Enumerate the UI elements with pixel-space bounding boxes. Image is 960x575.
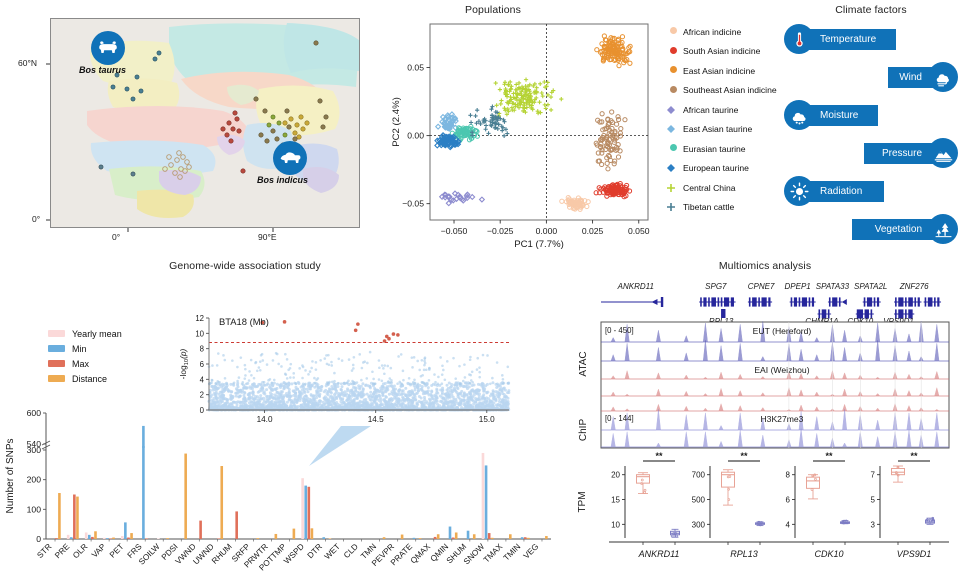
gwas-bar: [545, 536, 548, 539]
gwas-ylabel: Number of SNPs: [5, 438, 16, 513]
gwas-xtick: WSPD: [282, 542, 306, 566]
gene-label-ZNF276: ZNF276: [899, 282, 929, 291]
pca-legend-label: African indicine: [683, 27, 741, 37]
legend-plus-icon: [666, 183, 680, 193]
gwas-bar: [275, 534, 278, 539]
multiomics-title: Multiomics analysis: [615, 260, 915, 272]
gwas-bar: [199, 521, 202, 539]
legend-swatch: [48, 330, 65, 337]
gene-track: ANKRD11SPG7CPNE7DPEP1SPATA33SPATA2LZNF27…: [575, 276, 960, 324]
gwas-xtick: PRE: [53, 542, 72, 561]
legend-swatch: [48, 360, 65, 367]
gwas-bar: [482, 453, 485, 539]
gwas-bars: [55, 426, 548, 539]
gene-label-DPEP1: DPEP1: [785, 282, 811, 291]
tpm-gene-label-RPL13: RPL13: [730, 549, 758, 559]
gwas-bar: [527, 538, 530, 539]
manhattan-ytick: 10: [195, 329, 204, 338]
gene-exon: [809, 297, 811, 306]
pca-legend-label: South Asian indicine: [683, 46, 760, 56]
pca-xtick: 0.025: [582, 226, 604, 236]
legend-diamond-icon: [666, 124, 680, 134]
gwas-bar: [488, 533, 491, 539]
manhattan-ytick: 4: [200, 375, 205, 384]
legend-circle-icon: [666, 26, 680, 37]
gwas-bar: [88, 535, 91, 539]
gwas-bar: [485, 465, 488, 539]
climate-title: Climate factors: [782, 4, 960, 16]
gwas-xtick: VAP: [90, 542, 108, 560]
pca-legend-item[interactable]: Eurasian taurine: [666, 139, 786, 159]
gene-label-SPATA33: SPATA33: [816, 282, 850, 291]
gene-exon: [768, 297, 770, 306]
gwas-ytick: 540: [27, 439, 42, 449]
gwas-legend-label: Yearly mean: [72, 329, 122, 339]
gwas-bar: [130, 533, 133, 539]
gene-arrow-icon: [842, 299, 847, 305]
gwas-bar: [524, 537, 527, 539]
tpm-gene-label-CDK10: CDK10: [814, 549, 843, 559]
gene-exon: [895, 297, 897, 306]
gwas-xtick: WET: [323, 542, 342, 561]
climate-factor-temperature[interactable]: Temperature: [784, 24, 896, 54]
legend-plus-icon: [666, 202, 680, 212]
gene-exon: [711, 297, 716, 306]
significant-snp: [283, 320, 287, 324]
gwas-bar: [85, 532, 88, 539]
tpm-box: [807, 477, 820, 488]
gene-exon: [794, 297, 797, 306]
gene-exon: [700, 297, 702, 306]
gwas-bar: [301, 478, 304, 539]
gwas-bar: [401, 535, 404, 539]
tpm-ytick: 10: [611, 520, 620, 529]
climate-factor-label: Radiation: [806, 181, 884, 202]
pca-legend: African indicineSouth Asian indicineEast…: [666, 22, 786, 217]
pca-legend-label: African taurine: [683, 105, 738, 115]
gwas-xtick: RHUM: [210, 542, 234, 566]
pca-legend-item[interactable]: Tibetan cattle: [666, 198, 786, 218]
gwas-bar: [473, 534, 476, 539]
significance-marker: **: [825, 451, 833, 461]
pca-ytick: −0.05: [402, 199, 424, 209]
pca-panel: Populations −0.050−0.0250.0000.0250.0500…: [388, 10, 778, 260]
gwas-legend-label: Max: [72, 359, 89, 369]
tpm-ytick: 300: [692, 520, 706, 529]
gwas-legend-label: Min: [72, 344, 87, 354]
pca-xtick: 0.000: [536, 226, 558, 236]
track-group-chip: ChIP: [578, 419, 589, 442]
manhattan-ytick: 12: [195, 314, 204, 323]
gene-exon: [762, 297, 767, 306]
gwas-ytick: 0: [36, 534, 41, 544]
gwas-legend: Yearly meanMinMaxDistance: [48, 326, 122, 386]
gwas-bar: [235, 511, 238, 539]
gwas-bar: [94, 531, 97, 539]
gene-exon: [864, 297, 866, 306]
significant-snp: [354, 328, 358, 332]
gene-exon: [708, 297, 710, 306]
gwas-bar: [509, 534, 512, 539]
pca-legend-item[interactable]: Southeast Asian indicine: [666, 81, 786, 101]
gwas-bar: [467, 531, 470, 539]
climate-factor-label: Vegetation: [852, 219, 936, 240]
gwas-bar: [106, 538, 109, 539]
rain-cloud-icon: [784, 100, 814, 130]
manhattan-ylabel: -log10(p): [178, 348, 190, 379]
gwas-title: Genome-wide association study: [30, 260, 460, 272]
gwas-bar: [124, 522, 127, 539]
gwas-xtick: TMAX: [482, 542, 505, 565]
pca-legend-label: Central China: [683, 183, 736, 193]
gwas-bar: [127, 538, 130, 539]
gene-exon: [724, 297, 729, 306]
pca-legend-label: Eurasian taurine: [683, 144, 746, 154]
gene-exon: [832, 297, 837, 306]
gene-exon: [829, 297, 831, 306]
gene-label-ANKRD11: ANKRD11: [617, 282, 654, 291]
climate-factor-label: Moisture: [806, 105, 878, 126]
gwas-bar: [70, 537, 73, 539]
tpm-ytick: 15: [611, 496, 620, 505]
gene-exon: [905, 297, 907, 306]
gwas-bar: [293, 529, 296, 539]
gwas-bar: [67, 535, 70, 539]
gene-exon: [937, 297, 939, 306]
gene-exon: [908, 297, 913, 306]
track-group-atac: ATAC: [578, 351, 589, 376]
pca-legend-item[interactable]: South Asian indicine: [666, 42, 786, 62]
pca-xlabel: PC1 (7.7%): [514, 239, 564, 250]
climate-factor-vegetation[interactable]: Vegetation: [852, 214, 958, 244]
gwas-legend-item[interactable]: Max: [48, 356, 122, 371]
pca-legend-label: East Asian taurine: [683, 124, 752, 134]
gene-arrow-icon: [651, 299, 657, 305]
gene-label-SPG7: SPG7: [705, 282, 727, 291]
gene-exon: [839, 297, 841, 306]
gwas-bar: [311, 528, 314, 539]
pca-legend-item[interactable]: African indicine: [666, 22, 786, 42]
tpm-ytick: 500: [692, 496, 706, 505]
gwas-bar: [166, 538, 169, 539]
track-label: H3K27me3: [760, 414, 803, 424]
gwas-bar: [91, 537, 94, 539]
pca-legend-label: Southeast Asian indicine: [683, 85, 777, 95]
pca-xtick: 0.050: [628, 226, 650, 236]
gwas-xtick: TMIN: [502, 542, 523, 563]
gwas-xtick: OLR: [71, 542, 89, 560]
track-label: EUT (Hereford): [753, 326, 812, 336]
gwas-xtick: DTR: [306, 542, 324, 560]
pca-legend-item[interactable]: European taurine: [666, 159, 786, 179]
gene-exon: [934, 297, 936, 306]
gene-exon: [799, 297, 801, 306]
tpm-boxplots: TPM101520**ANKRD11300500700**RPL13468**C…: [575, 450, 960, 570]
gwas-bar: [455, 532, 458, 539]
pca-legend-item[interactable]: Central China: [666, 178, 786, 198]
legend-diamond-icon: [666, 163, 680, 173]
gwas-xtick: QMAX: [409, 542, 433, 566]
gene-exon: [925, 297, 927, 306]
track-label: EAI (Weizhou): [754, 365, 809, 375]
gwas-bar: [76, 497, 79, 539]
pca-ytick: 0.00: [407, 131, 424, 141]
gwas-bar: [220, 466, 223, 539]
track-range-label: [0 - 144]: [605, 414, 634, 423]
gwas-bar: [434, 537, 437, 539]
gene-exon: [718, 297, 720, 306]
gwas-bar: [322, 537, 325, 539]
tpm-ytick: 7: [871, 471, 876, 480]
pca-ylabel: PC2 (2.4%): [391, 97, 402, 147]
significant-snp: [392, 332, 396, 336]
pca-legend-item[interactable]: East Asian taurine: [666, 120, 786, 140]
gwas-bar: [329, 538, 332, 539]
climate-factor-moisture[interactable]: Moisture: [784, 100, 878, 130]
pca-legend-label: East Asian indicine: [683, 66, 755, 76]
gwas-legend-item[interactable]: Yearly mean: [48, 326, 122, 341]
significant-snp: [396, 333, 400, 337]
significance-marker: **: [740, 451, 748, 461]
gene-exon: [914, 297, 916, 306]
climate-factor-wind[interactable]: Wind: [888, 62, 958, 92]
manhattan-ytick: 8: [200, 345, 204, 354]
gwas-bar: [308, 487, 311, 539]
gwas-bar: [184, 454, 187, 539]
gene-label-SPATA2L: SPATA2L: [854, 282, 887, 291]
gwas-ytick: 200: [27, 475, 42, 485]
sun-icon: [784, 176, 814, 206]
gwas-xtick: PET: [108, 542, 126, 560]
gwas-bar: [217, 538, 220, 539]
gene-label-CPNE7: CPNE7: [748, 282, 775, 291]
climate-factor-label: Pressure: [864, 143, 936, 164]
gwas-bar: [452, 538, 455, 539]
pca-xtick: −0.050: [441, 226, 468, 236]
gwas-bar: [73, 495, 76, 540]
significant-snp: [356, 322, 360, 326]
significance-marker: **: [655, 451, 663, 461]
significant-snp: [387, 337, 391, 341]
gwas-bar: [145, 538, 148, 539]
gene-exon: [918, 297, 920, 306]
world-map-panel: Bos taurus Bos indicus 60°N 0° 0° 90°E: [18, 10, 368, 240]
coverage-tracks: [0 - 450]EUT (Hereford)EAI (Weizhou)[0 -…: [575, 320, 960, 452]
gwas-bar: [383, 537, 386, 539]
track-range-label: [0 - 450]: [605, 326, 634, 335]
tpm-ytick: 4: [786, 520, 791, 529]
gwas-xtick: VEG: [522, 542, 541, 561]
gwas-bar: [157, 538, 160, 539]
gwas-bar: [437, 534, 440, 539]
legend-circle-icon: [666, 65, 680, 76]
tpm-ylabel: TPM: [577, 491, 588, 512]
gwas-bar: [419, 538, 422, 539]
gwas-bar: [109, 538, 112, 539]
multiomics-panel: Multiomics analysis ANKRD11SPG7CPNE7DPEP…: [575, 258, 960, 575]
gwas-xtick: CLD: [342, 542, 360, 560]
manhattan-ytick: 2: [200, 391, 204, 400]
gene-exon: [758, 297, 760, 306]
tpm-ytick: 3: [871, 520, 876, 529]
gene-exon: [874, 297, 876, 306]
gwas-ytick: 100: [27, 504, 42, 514]
gwas-bar-chart: 0100200300540600Number of SNPsSTRPREOLRV…: [0, 408, 575, 575]
gene-exon: [791, 297, 793, 306]
gene-exon: [703, 297, 706, 306]
wind-cloud-icon: [928, 62, 958, 92]
gwas-bar: [257, 538, 260, 539]
pca-legend-label: European taurine: [683, 163, 749, 173]
pca-legend-label: Tibetan cattle: [683, 202, 734, 212]
climate-factor-label: Temperature: [806, 29, 896, 50]
legend-swatch: [48, 345, 65, 352]
gwas-bar: [491, 538, 494, 539]
pca-xtick: −0.025: [487, 226, 514, 236]
climate-factor-radiation[interactable]: Radiation: [784, 176, 884, 206]
gwas-legend-item[interactable]: Min: [48, 341, 122, 356]
legend-diamond-icon: [666, 105, 680, 115]
gwas-bar: [112, 538, 115, 539]
gene-exon: [867, 297, 872, 306]
legend-circle-icon: [666, 46, 680, 57]
gwas-legend-item[interactable]: Distance: [48, 371, 122, 386]
gwas-bar: [58, 493, 61, 539]
tpm-gene-label-ANKRD11: ANKRD11: [638, 549, 680, 559]
gwas-bar: [142, 446, 145, 539]
gwas-bar: [55, 538, 58, 539]
pca-title: Populations: [358, 4, 628, 16]
manhattan-title: BTA18 (Mb): [219, 316, 269, 327]
climate-factor-pressure[interactable]: Pressure: [864, 138, 958, 168]
gwas-ytick: 600: [27, 408, 42, 418]
gene-exon: [731, 297, 734, 306]
gwas-bar: [304, 486, 307, 539]
gwas-xtick: SNOW: [462, 542, 487, 567]
gene-exon: [928, 297, 933, 306]
gene-exon: [802, 297, 807, 306]
thermometer-icon: [784, 24, 814, 54]
gwas-bar: [103, 538, 106, 539]
manhattan-ytick: 6: [200, 360, 204, 369]
pca-legend-item[interactable]: African taurine: [666, 100, 786, 120]
mountain-icon: [928, 138, 958, 168]
tpm-ytick: 700: [692, 471, 706, 480]
tpm-box: [892, 468, 905, 474]
legend-swatch: [48, 375, 65, 382]
tree-icon: [928, 214, 958, 244]
legend-circle-icon: [666, 85, 680, 96]
tpm-gene-label-VPS9D1: VPS9D1: [897, 549, 932, 559]
tpm-ytick: 8: [786, 471, 791, 480]
gene-exon: [752, 297, 757, 306]
significance-marker: **: [910, 451, 918, 461]
gwas-bar: [121, 536, 124, 539]
tpm-ytick: 5: [871, 496, 876, 505]
gwas-xtick: STR: [35, 542, 53, 560]
pca-legend-item[interactable]: East Asian indicine: [666, 61, 786, 81]
gene-exon: [812, 297, 814, 306]
gene-exon: [661, 297, 663, 307]
gwas-bar: [413, 538, 416, 539]
gene-exon: [877, 297, 879, 306]
climate-factors-panel: Climate factors TemperatureWindMoistureP…: [782, 2, 960, 247]
tpm-ytick: 6: [786, 496, 791, 505]
gwas-legend-label: Distance: [72, 374, 107, 384]
gene-exon: [721, 297, 723, 306]
pca-plot: −0.050−0.0250.0000.0250.0500.050.00−0.05…: [388, 10, 668, 258]
map-axis-ticks: [18, 10, 368, 240]
gwas-bar-upper: [142, 426, 145, 448]
gwas-bar: [521, 537, 524, 539]
gwas-panel: Genome-wide association study Yearly mea…: [0, 258, 575, 575]
gene-exon: [749, 297, 751, 306]
gwas-bar: [449, 527, 452, 539]
pca-ytick: 0.05: [407, 63, 424, 73]
tpm-ytick: 20: [611, 471, 620, 480]
legend-circle-icon: [666, 143, 680, 154]
gene-exon: [898, 297, 903, 306]
